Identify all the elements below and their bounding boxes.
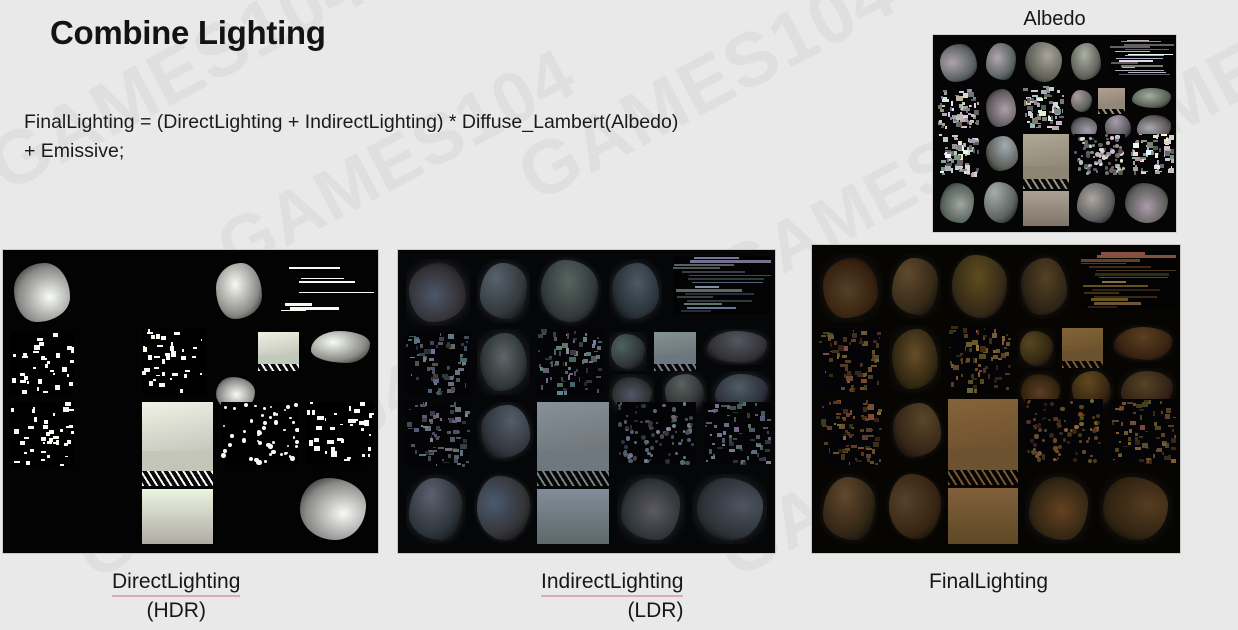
- atlas-speck: [1070, 401, 1073, 404]
- atlas-speck: [975, 358, 977, 363]
- atlas-speck: [47, 342, 50, 347]
- atlas-speck: [1128, 442, 1131, 445]
- atlas-speck: [230, 434, 233, 437]
- atlas-speck: [252, 407, 254, 409]
- atlas-speck: [42, 358, 45, 361]
- atlas-speck: [866, 448, 872, 450]
- atlas-speck: [1042, 439, 1045, 442]
- atlas-speck: [325, 451, 327, 453]
- atlas-speck: [1122, 402, 1126, 405]
- atlas-speck: [757, 443, 761, 445]
- atlas-speck: [177, 366, 180, 371]
- atlas-speck: [409, 409, 411, 411]
- atlas-speck: [191, 342, 196, 344]
- atlas-speck: [429, 358, 434, 361]
- atlas-speck: [1139, 409, 1144, 411]
- atlas-speck: [1030, 439, 1034, 443]
- atlas-speck: [765, 449, 770, 452]
- atlas-speck: [334, 413, 338, 415]
- atlas-speck: [635, 411, 637, 413]
- atlas-speck: [650, 454, 653, 457]
- atlas-speck: [165, 369, 170, 372]
- atlas-speck: [189, 389, 192, 391]
- atlas-speck: [1086, 440, 1089, 443]
- atlas-stripe-bar: [1125, 55, 1164, 56]
- atlas-speck: [1171, 438, 1176, 440]
- atlas-speck: [221, 453, 226, 458]
- atlas-speck: [668, 453, 671, 456]
- indirect-lighting-label: IndirectLighting: [541, 568, 683, 597]
- atlas-speck: [21, 362, 24, 365]
- atlas-speck: [428, 389, 431, 392]
- atlas-speck: [1140, 425, 1145, 430]
- atlas-speck: [993, 355, 998, 359]
- atlas-cell: [1110, 39, 1173, 76]
- atlas-speck: [20, 377, 24, 379]
- atlas-speck: [65, 402, 71, 407]
- atlas-speck: [35, 410, 41, 415]
- atlas-speck: [962, 169, 967, 171]
- direct-lighting-label: DirectLighting: [112, 568, 240, 597]
- atlas-speck: [956, 376, 958, 381]
- atlas-speck: [1159, 148, 1161, 152]
- atlas-speck: [440, 418, 442, 421]
- atlas-blob: [823, 477, 875, 539]
- atlas-speck: [1088, 165, 1090, 167]
- atlas-speck: [416, 346, 418, 350]
- atlas-speck: [977, 150, 979, 154]
- atlas-speck: [1165, 414, 1170, 419]
- atlas-speck: [20, 384, 24, 388]
- atlas-cell: [984, 41, 1018, 82]
- atlas-speck: [256, 460, 261, 465]
- atlas-speck: [53, 436, 58, 439]
- atlas-speck: [980, 346, 985, 351]
- atlas-speck: [734, 427, 739, 432]
- atlas-speck: [228, 443, 232, 447]
- final-lighting-image: [812, 245, 1180, 553]
- atlas-speck: [958, 122, 962, 127]
- atlas-speck: [295, 428, 299, 433]
- atlas-speck: [1171, 159, 1174, 162]
- atlas-speck: [966, 358, 970, 362]
- atlas-speck: [566, 348, 570, 353]
- atlas-speck: [28, 426, 34, 429]
- atlas-speck: [1032, 118, 1037, 123]
- atlas-speck: [727, 415, 730, 417]
- atlas-speck: [466, 341, 468, 343]
- atlas-speck: [336, 416, 342, 418]
- atlas-speck: [844, 346, 848, 351]
- atlas-speck: [678, 442, 681, 445]
- atlas-speck: [685, 461, 689, 465]
- atlas-speck: [272, 435, 276, 439]
- atlas-speck: [949, 347, 951, 349]
- atlas-speck: [867, 457, 870, 461]
- atlas-speck: [45, 358, 47, 360]
- atlas-speck: [868, 435, 874, 437]
- atlas-speck: [1092, 428, 1097, 433]
- atlas-blob: [409, 263, 465, 322]
- atlas-speck: [1005, 352, 1009, 356]
- atlas-grid-tile: [142, 329, 206, 396]
- atlas-speck: [958, 141, 962, 145]
- atlas-stripe-bar: [1091, 298, 1128, 301]
- atlas-speck: [1105, 134, 1108, 137]
- atlas-stripe-bar: [674, 264, 734, 267]
- atlas-speck: [971, 99, 976, 101]
- atlas-speck: [67, 374, 69, 377]
- atlas-speck: [1108, 162, 1112, 166]
- atlas-speck: [621, 440, 625, 444]
- atlas-speck: [852, 333, 857, 338]
- atlas-speck: [327, 440, 333, 443]
- atlas-speck: [749, 428, 755, 432]
- atlas-speck: [824, 442, 828, 445]
- atlas-speck: [432, 363, 438, 366]
- atlas-speck: [829, 402, 832, 404]
- atlas-speck: [978, 364, 981, 367]
- atlas-speck: [879, 428, 882, 430]
- atlas-speck: [978, 372, 980, 377]
- atlas-speck: [257, 434, 260, 437]
- atlas-stripe-bar: [1111, 62, 1138, 63]
- atlas-stripe-bar: [289, 267, 340, 269]
- atlas-speck: [756, 435, 760, 440]
- atlas-speck: [836, 413, 841, 416]
- atlas-speck: [1082, 429, 1084, 431]
- atlas-speck: [68, 409, 74, 411]
- atlas-speck: [420, 344, 423, 348]
- atlas-speck: [940, 109, 944, 112]
- atlas-cell: [984, 134, 1020, 173]
- atlas-stripe-bar: [1088, 306, 1117, 308]
- atlas-cell: [477, 402, 534, 463]
- atlas-speck: [55, 385, 60, 390]
- atlas-stripe-bar: [305, 261, 357, 263]
- atlas-speck: [842, 450, 847, 452]
- atlas-speck: [851, 339, 856, 342]
- atlas-cell: [982, 179, 1021, 226]
- atlas-speck: [843, 364, 849, 367]
- atlas-speck: [1074, 151, 1077, 154]
- atlas-stripe-bar: [279, 285, 364, 288]
- atlas-blob: [541, 260, 597, 321]
- atlas-speck: [938, 105, 942, 108]
- atlas-speck: [31, 380, 35, 384]
- atlas-speck: [868, 367, 873, 371]
- final-lighting-caption: FinalLighting: [929, 568, 1048, 595]
- atlas-speck: [636, 406, 638, 408]
- atlas-speck: [872, 449, 875, 454]
- atlas-speck: [188, 333, 193, 338]
- atlas-cell: [142, 329, 206, 396]
- atlas-speck: [975, 368, 978, 370]
- atlas-speck: [49, 430, 54, 435]
- atlas-speck: [1088, 459, 1092, 463]
- atlas-speck: [570, 382, 575, 387]
- atlas-speck: [974, 103, 976, 108]
- atlas-speck: [942, 99, 948, 102]
- atlas-speck: [659, 443, 662, 446]
- atlas-speck: [579, 342, 583, 347]
- atlas-flat-tile: [948, 488, 1018, 543]
- atlas-speck: [853, 388, 856, 390]
- atlas-cell: [819, 254, 882, 322]
- atlas-speck: [585, 388, 589, 390]
- atlas-speck: [358, 432, 360, 436]
- atlas-speck: [849, 462, 851, 465]
- atlas-speck: [56, 353, 60, 358]
- atlas-blob: [146, 260, 202, 321]
- atlas-speck: [1113, 172, 1117, 175]
- atlas-speck: [541, 329, 547, 332]
- atlas-speck: [630, 425, 633, 428]
- atlas-speck: [325, 418, 327, 421]
- atlas-speck: [42, 348, 46, 353]
- atlas-speck: [1079, 422, 1084, 427]
- atlas-speck: [829, 374, 833, 377]
- atlas-blob: [889, 474, 941, 539]
- atlas-speck: [67, 435, 73, 437]
- atlas-speck: [971, 374, 974, 378]
- atlas-blob: [216, 263, 262, 319]
- atlas-speck: [325, 435, 329, 439]
- atlas-speck: [53, 333, 58, 337]
- atlas-speck: [22, 390, 27, 394]
- atlas-blob: [85, 263, 131, 319]
- atlas-speck: [557, 383, 563, 387]
- atlas-speck: [863, 403, 868, 405]
- atlas-speck: [675, 452, 679, 456]
- atlas-speck: [1092, 144, 1095, 147]
- atlas-cell: [537, 402, 609, 487]
- atlas-grid-tile: [819, 399, 882, 467]
- atlas-speck: [650, 446, 654, 450]
- atlas-speck: [1006, 342, 1010, 346]
- atlas-speck: [448, 382, 454, 386]
- atlas-speck: [37, 387, 39, 390]
- atlas-cell: [213, 332, 251, 371]
- atlas-speck: [182, 342, 185, 344]
- atlas-speck: [760, 416, 765, 421]
- atlas-speck: [60, 429, 63, 432]
- atlas-speck: [436, 413, 438, 418]
- atlas-speck: [270, 406, 272, 408]
- atlas-speck: [624, 420, 627, 423]
- atlas-speck: [12, 378, 16, 383]
- atlas-speck: [992, 333, 996, 338]
- atlas-speck: [664, 431, 669, 436]
- atlas-speck: [47, 335, 53, 338]
- atlas-speck: [1093, 459, 1097, 463]
- atlas-speck: [414, 428, 419, 432]
- atlas-speck: [1142, 171, 1148, 173]
- atlas-speck: [850, 410, 852, 415]
- atlas-speck: [360, 402, 365, 407]
- atlas-speck: [1153, 140, 1158, 143]
- atlas-speck: [963, 143, 966, 146]
- atlas-blob: [940, 44, 976, 82]
- atlas-speck: [618, 407, 621, 410]
- albedo-atlas: [933, 35, 1176, 232]
- atlas-speck: [1151, 151, 1154, 155]
- atlas-speck: [1128, 437, 1131, 441]
- atlas-speck: [553, 332, 557, 337]
- atlas-stripe-bar: [1119, 74, 1171, 75]
- atlas-speck: [715, 404, 719, 407]
- atlas-speck: [853, 416, 855, 419]
- atlas-cell: [221, 474, 289, 544]
- atlas-speck: [1153, 411, 1155, 416]
- atlas-speck: [655, 440, 659, 444]
- atlas-speck: [1118, 454, 1122, 457]
- atlas-blob: [986, 43, 1016, 79]
- atlas-speck: [41, 387, 46, 392]
- atlas-speck: [1039, 111, 1045, 116]
- atlas-speck: [861, 452, 864, 456]
- atlas-speck: [50, 370, 54, 372]
- atlas-speck: [151, 335, 155, 339]
- atlas-speck: [33, 343, 39, 345]
- atlas-speck: [675, 431, 677, 433]
- atlas-blob: [14, 478, 67, 539]
- atlas-speck: [1156, 135, 1158, 139]
- atlas-speck: [15, 340, 19, 344]
- atlas-speck: [645, 442, 648, 445]
- atlas-speck: [1035, 454, 1039, 458]
- atlas-speck: [168, 388, 172, 390]
- atlas-cell: [1123, 181, 1172, 226]
- atlas-blob: [986, 136, 1018, 171]
- atlas-speck: [836, 400, 838, 402]
- atlas-speck: [35, 424, 40, 429]
- atlas-speck: [823, 353, 829, 355]
- atlas-speck: [156, 375, 160, 377]
- atlas-speck: [185, 370, 190, 372]
- atlas-speck: [554, 349, 556, 354]
- atlas-hatch: [142, 471, 213, 486]
- atlas-speck: [834, 341, 837, 345]
- atlas-speck: [25, 416, 28, 419]
- atlas-speck: [312, 410, 315, 414]
- atlas-speck: [996, 349, 1001, 352]
- atlas-speck: [246, 442, 250, 446]
- atlas-speck: [1057, 457, 1059, 459]
- atlas-speck: [1079, 405, 1083, 409]
- atlas-speck: [538, 334, 543, 338]
- atlas-speck: [69, 382, 73, 387]
- atlas-speck: [1139, 134, 1143, 136]
- atlas-speck: [1027, 98, 1030, 103]
- atlas-speck: [559, 351, 561, 355]
- atlas-speck: [407, 422, 412, 427]
- atlas-speck: [13, 352, 18, 354]
- atlas-cell: [1023, 134, 1069, 189]
- atlas-speck: [585, 333, 587, 336]
- atlas-speck: [974, 389, 976, 393]
- atlas-speck: [1098, 143, 1103, 148]
- atlas-stripe-bar: [694, 257, 739, 260]
- atlas-speck: [861, 331, 867, 336]
- atlas-cell: [617, 474, 685, 544]
- atlas-stripe-bar: [677, 296, 713, 298]
- atlas-speck: [596, 355, 600, 359]
- atlas-cell: [938, 181, 977, 226]
- atlas-speck: [965, 346, 967, 351]
- atlas-speck: [14, 429, 19, 434]
- atlas-speck: [411, 374, 413, 376]
- atlas-speck: [1064, 420, 1066, 422]
- atlas-cell: [938, 134, 979, 177]
- atlas-speck: [711, 456, 715, 459]
- atlas-blob: [697, 478, 763, 539]
- atlas-speck: [1115, 408, 1121, 410]
- atlas-speck: [985, 366, 988, 369]
- atlas-blob: [1103, 477, 1168, 539]
- atlas-speck: [861, 379, 867, 383]
- atlas-speck: [557, 391, 563, 396]
- atlas-speck: [866, 428, 872, 432]
- atlas-speck: [841, 454, 845, 459]
- atlas-speck: [71, 349, 75, 353]
- atlas-speck: [408, 428, 413, 430]
- atlas-speck: [721, 405, 727, 407]
- atlas-speck: [1164, 146, 1170, 150]
- atlas-speck: [649, 459, 651, 461]
- atlas-speck: [647, 460, 649, 462]
- atlas-speck: [261, 414, 264, 417]
- atlas-cell: [406, 402, 470, 469]
- atlas-speck: [36, 418, 42, 422]
- atlas-speck: [170, 378, 172, 380]
- atlas-speck: [710, 434, 712, 436]
- atlas-speck: [154, 356, 160, 358]
- atlas-speck: [192, 356, 196, 359]
- atlas-speck: [223, 425, 225, 427]
- atlas-speck: [1026, 420, 1031, 425]
- atlas-speck: [166, 366, 171, 368]
- atlas-speck: [369, 434, 371, 436]
- atlas-speck: [633, 458, 636, 461]
- atlas-blob: [300, 478, 366, 539]
- atlas-stripe-bar: [1128, 54, 1173, 55]
- atlas-speck: [350, 428, 355, 431]
- atlas-cell: [537, 489, 609, 544]
- atlas-speck: [550, 377, 552, 380]
- atlas-speck: [874, 418, 879, 422]
- atlas-speck: [1122, 167, 1125, 170]
- atlas-speck: [1115, 159, 1117, 161]
- atlas-speck: [1057, 90, 1059, 93]
- atlas-speck: [1153, 146, 1159, 150]
- atlas-speck: [447, 342, 449, 345]
- atlas-speck: [856, 460, 862, 462]
- atlas-stripe-bar: [685, 293, 754, 295]
- atlas-speck: [366, 445, 372, 450]
- atlas-speck: [672, 442, 675, 445]
- atlas-speck: [849, 342, 851, 345]
- atlas-speck: [706, 422, 712, 424]
- atlas-speck: [1033, 443, 1037, 447]
- atlas-blob: [1021, 258, 1066, 315]
- atlas-stripe-bar: [682, 271, 746, 273]
- atlas-speck: [1005, 373, 1009, 375]
- atlas-speck: [1042, 457, 1045, 460]
- atlas-speck: [438, 447, 444, 449]
- atlas-speck: [226, 403, 229, 406]
- atlas-speck: [685, 418, 688, 421]
